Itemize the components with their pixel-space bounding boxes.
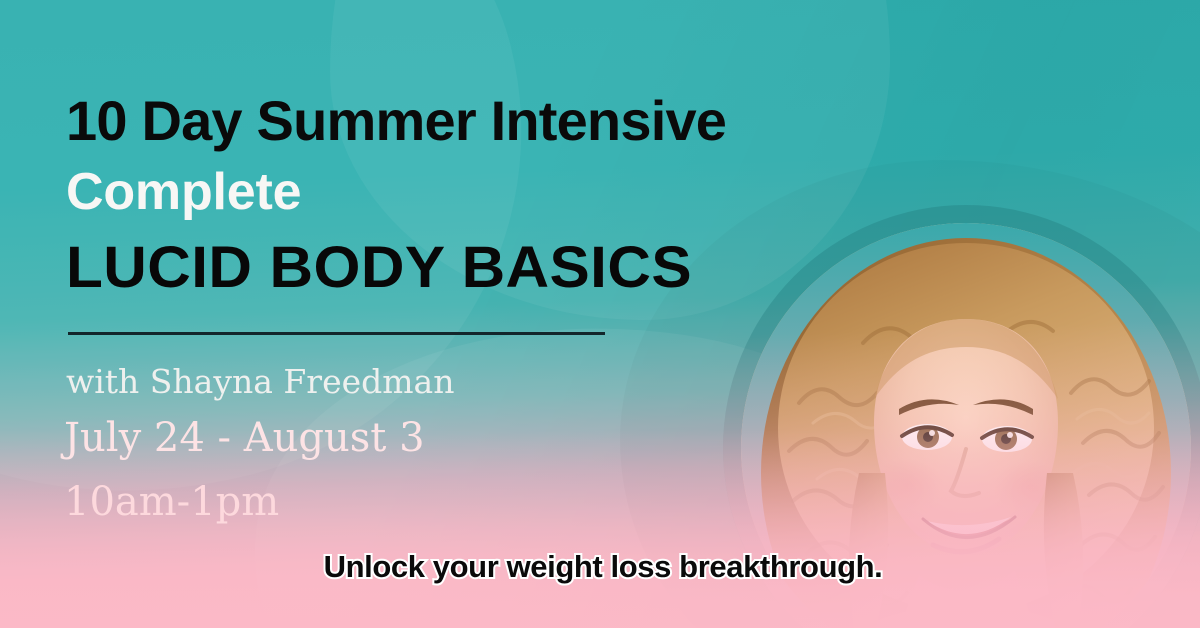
- event-dates: July 24 - August 3: [64, 416, 425, 460]
- promo-banner: 10 Day Summer Intensive Complete LUCID B…: [0, 0, 1200, 628]
- content-layer: 10 Day Summer Intensive Complete LUCID B…: [0, 0, 1200, 628]
- headline-line-2: Complete: [66, 165, 301, 220]
- tagline: Unlock your weight loss breakthrough.: [3, 550, 1200, 584]
- event-times: 10am-1pm: [64, 480, 279, 524]
- divider-rule: [68, 332, 605, 335]
- headline-line-1: 10 Day Summer Intensive: [66, 92, 726, 151]
- presenter-name: with Shayna Freedman: [66, 364, 454, 400]
- headline-line-3: LUCID BODY BASICS: [66, 238, 692, 299]
